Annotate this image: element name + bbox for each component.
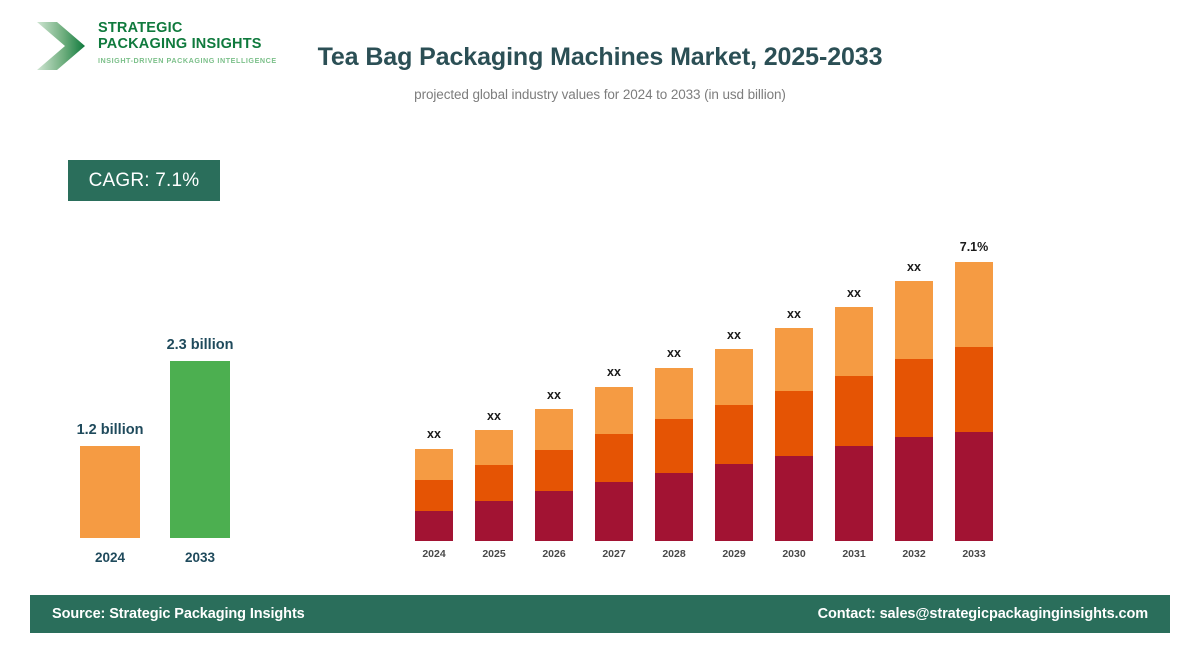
stacked-bar-value-label: xx <box>667 346 681 360</box>
stacked-bar <box>595 387 633 541</box>
stacked-bar-group: 7.1%2033 <box>955 261 993 560</box>
stacked-bar <box>955 262 993 541</box>
stacked-bar-segment-segment-1 <box>475 501 513 541</box>
page-title: Tea Bag Packaging Machines Market, 2025-… <box>300 40 900 74</box>
page-subtitle: projected global industry values for 202… <box>300 87 900 102</box>
stacked-bar-segment-segment-3 <box>835 307 873 376</box>
stacked-bar <box>475 430 513 541</box>
forecast-stacked-bar-chart: xx2024xx2025xx2026xx2027xx2028xx2029xx20… <box>400 200 1020 560</box>
stacked-bar-group: xx2030 <box>775 328 813 560</box>
stacked-bar-year-label: 2032 <box>902 548 925 560</box>
stacked-bar-segment-segment-2 <box>955 347 993 432</box>
cagr-badge: CAGR: 7.1% <box>68 160 220 201</box>
stacked-bar-group: xx2024 <box>415 448 453 560</box>
stacked-bar-segment-segment-1 <box>415 511 453 541</box>
stacked-bar-year-label: 2027 <box>602 548 625 560</box>
stacked-bar-value-label: xx <box>547 388 561 402</box>
mini-bar-year-label: 2024 <box>95 550 125 565</box>
brand-logo: STRATEGIC PACKAGING INSIGHTS INSIGHT-DRI… <box>30 14 280 80</box>
stacked-bar-year-label: 2031 <box>842 548 865 560</box>
stacked-bar <box>415 449 453 541</box>
mini-bar-value-label: 2.3 billion <box>167 337 234 353</box>
stacked-bar <box>835 307 873 541</box>
footer-bar: Source: Strategic Packaging Insights Con… <box>30 595 1170 633</box>
stacked-bar-segment-segment-3 <box>895 281 933 359</box>
stacked-bar-segment-segment-2 <box>595 434 633 482</box>
stacked-bar <box>715 349 753 541</box>
stacked-bar-value-label: xx <box>487 409 501 423</box>
brand-tagline: INSIGHT-DRIVEN PACKAGING INTELLIGENCE <box>98 56 277 65</box>
brand-name-line2: PACKAGING INSIGHTS <box>98 37 277 53</box>
stacked-bar-segment-segment-2 <box>895 359 933 437</box>
stacked-bar-value-label: xx <box>907 260 921 274</box>
stacked-bar-segment-segment-1 <box>775 456 813 541</box>
stacked-bar-year-label: 2028 <box>662 548 685 560</box>
stacked-bar <box>655 368 693 541</box>
mini-bar-group: 1.2 billion2024 <box>80 446 140 538</box>
stacked-bar-segment-segment-1 <box>895 437 933 541</box>
stacked-bar-year-label: 2025 <box>482 548 505 560</box>
stacked-bar-segment-segment-3 <box>415 449 453 480</box>
stacked-bar-segment-segment-2 <box>535 450 573 491</box>
stacked-bar-year-label: 2033 <box>962 548 985 560</box>
mini-bar <box>170 361 230 538</box>
stacked-bar-segment-segment-3 <box>955 262 993 347</box>
stacked-bar-segment-segment-3 <box>775 328 813 391</box>
stacked-bar-year-label: 2026 <box>542 548 565 560</box>
stacked-bar-segment-segment-1 <box>835 446 873 541</box>
brand-name-line1: STRATEGIC <box>98 21 277 37</box>
stacked-bar-segment-segment-3 <box>535 409 573 450</box>
stacked-bar <box>535 409 573 541</box>
stacked-bar-segment-segment-2 <box>835 376 873 446</box>
stacked-bar-group: xx2029 <box>715 349 753 560</box>
stacked-bar-group: xx2032 <box>895 281 933 560</box>
mini-bar <box>80 446 140 538</box>
stacked-bar-value-label: 7.1% <box>960 240 989 254</box>
stacked-bar-group: xx2028 <box>655 367 693 560</box>
stacked-bar-value-label: xx <box>607 365 621 379</box>
stacked-bar-segment-segment-3 <box>475 430 513 465</box>
mini-bar-group: 2.3 billion2033 <box>170 361 230 538</box>
brand-name: STRATEGIC PACKAGING INSIGHTS INSIGHT-DRI… <box>98 21 277 65</box>
stacked-bar-segment-segment-1 <box>655 473 693 541</box>
stacked-bar-value-label: xx <box>787 307 801 321</box>
stacked-bar-year-label: 2024 <box>422 548 445 560</box>
stacked-bar-segment-segment-3 <box>715 349 753 405</box>
footer-source: Source: Strategic Packaging Insights <box>52 606 305 622</box>
stacked-bar-year-label: 2029 <box>722 548 745 560</box>
stacked-bar-group: xx2031 <box>835 307 873 560</box>
stacked-bar-value-label: xx <box>727 328 741 342</box>
stacked-bar-value-label: xx <box>847 286 861 300</box>
stacked-bar-segment-segment-2 <box>475 465 513 501</box>
stacked-bar-segment-segment-3 <box>655 368 693 419</box>
chart-header: Tea Bag Packaging Machines Market, 2025-… <box>300 40 900 102</box>
chevron-logo-icon <box>35 18 93 74</box>
stacked-bar-group: xx2026 <box>535 409 573 560</box>
stacked-bar-segment-segment-1 <box>595 482 633 541</box>
footer-contact: Contact: sales@strategicpackaginginsight… <box>818 606 1148 622</box>
stacked-bar-segment-segment-1 <box>535 491 573 541</box>
cagr-badge-label: CAGR: 7.1% <box>89 170 200 192</box>
stacked-bar-segment-segment-1 <box>955 432 993 541</box>
stacked-bar-group: xx2027 <box>595 386 633 560</box>
stacked-bar-segment-segment-2 <box>655 419 693 473</box>
stacked-bar-segment-segment-2 <box>715 405 753 464</box>
stacked-bar <box>895 281 933 541</box>
mini-bar-value-label: 1.2 billion <box>77 422 144 438</box>
stacked-bar-group: xx2025 <box>475 430 513 560</box>
stacked-bar-segment-segment-2 <box>415 480 453 511</box>
mini-bar-year-label: 2033 <box>185 550 215 565</box>
stacked-bar-year-label: 2030 <box>782 548 805 560</box>
stacked-bar-segment-segment-3 <box>595 387 633 434</box>
stacked-bar-segment-segment-1 <box>715 464 753 541</box>
comparison-bar-chart: 1.2 billion20242.3 billion2033 <box>40 300 300 570</box>
stacked-bar-segment-segment-2 <box>775 391 813 456</box>
stacked-bar-value-label: xx <box>427 427 441 441</box>
stacked-bar <box>775 328 813 541</box>
